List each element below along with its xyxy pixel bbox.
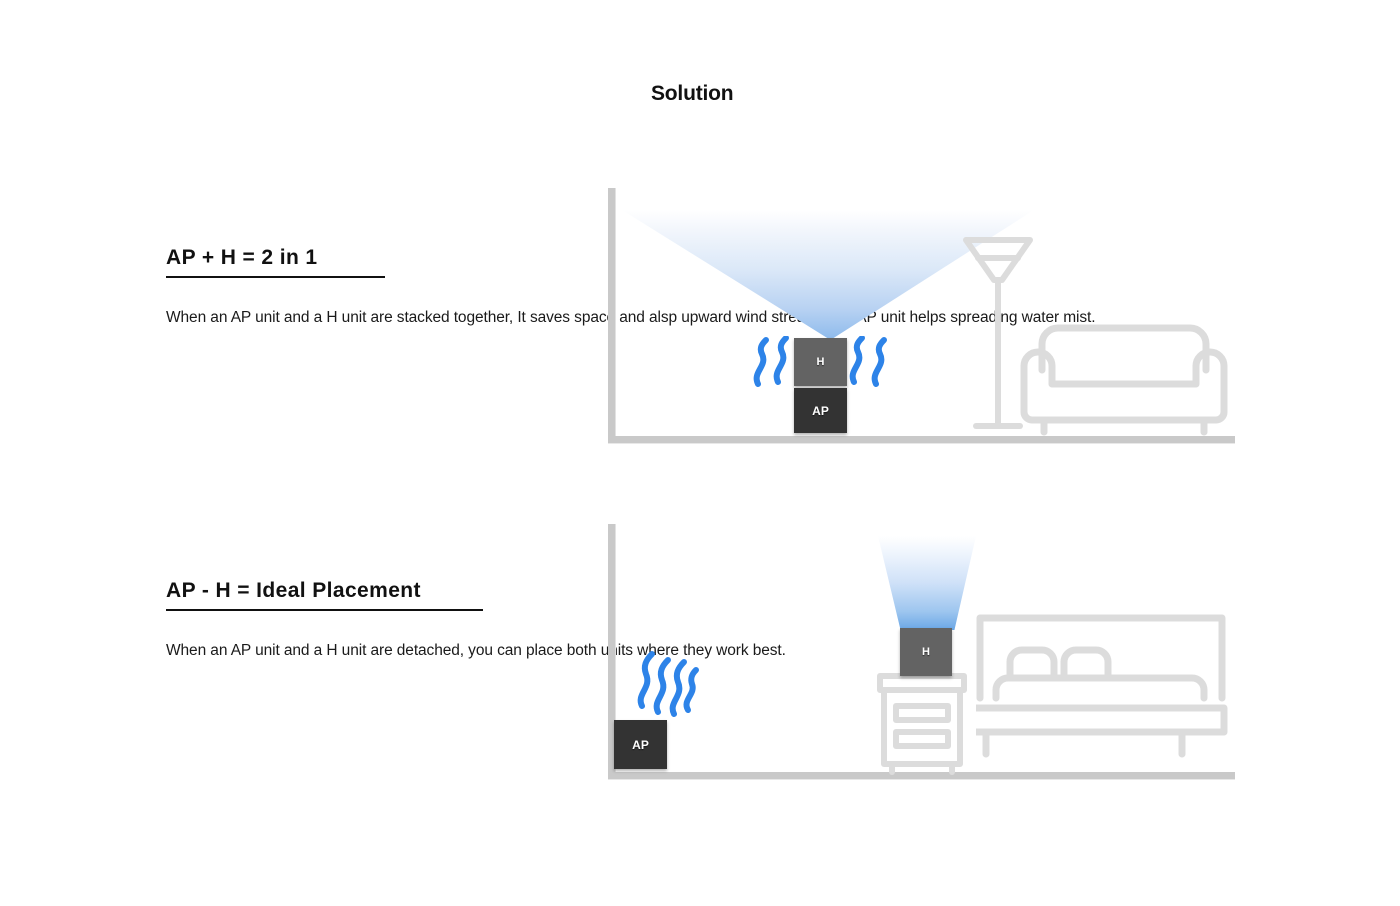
- sofa-icon: [1012, 308, 1236, 436]
- wind-stream-icon: [636, 644, 704, 718]
- wind-stream-right-icon: [848, 336, 892, 390]
- mist-cone-narrow-icon: [878, 536, 976, 630]
- bed-icon: [976, 612, 1232, 770]
- unit-humidifier: H: [794, 338, 847, 386]
- illustration-bedroom: AP H: [608, 524, 1238, 779]
- page-title: Solution: [651, 82, 733, 106]
- unit-humidifier: H: [900, 628, 952, 676]
- unit-air-purifier: AP: [794, 388, 847, 433]
- block-heading-2: AP - H = Ideal Placement: [166, 579, 483, 611]
- room-floor-line: [608, 436, 1235, 443]
- room-wall-line: [608, 188, 615, 437]
- block-heading-1: AP + H = 2 in 1: [166, 246, 385, 278]
- wind-stream-left-icon: [748, 336, 792, 390]
- unit-air-purifier: AP: [614, 720, 667, 769]
- illustration-living-room: H AP: [608, 188, 1238, 443]
- slide-canvas: Solution AP + H = 2 in 1 When an AP unit…: [0, 0, 1400, 906]
- nightstand-icon: [876, 672, 968, 776]
